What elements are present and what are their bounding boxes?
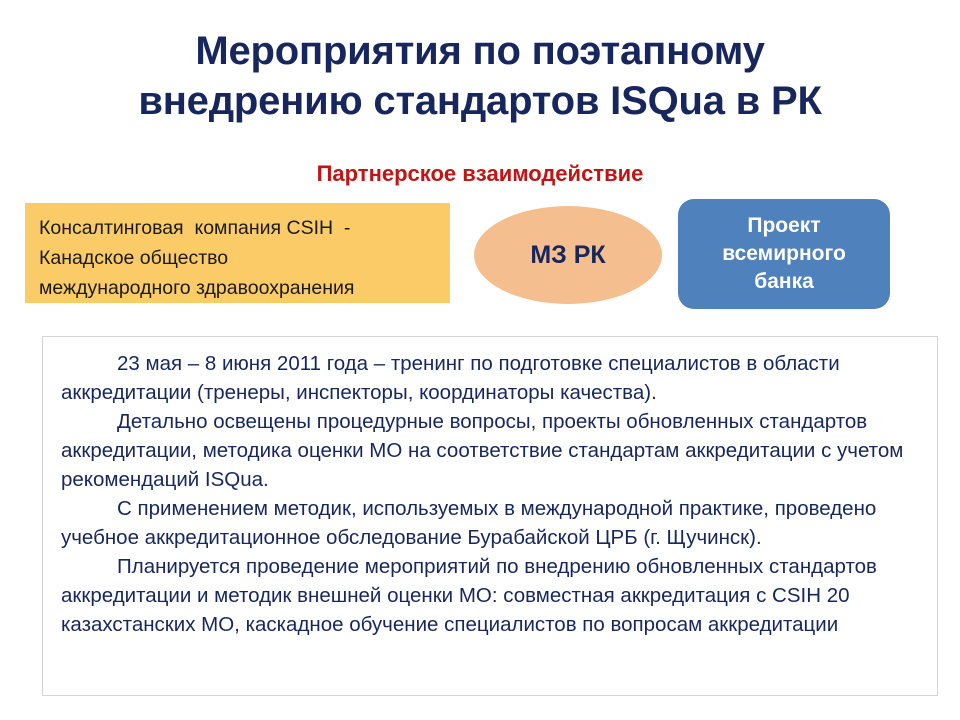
body-paragraph-4: Планируется проведение мероприятий по вн… [61, 552, 921, 639]
body-paragraph-3: С применением методик, используемых в ме… [61, 494, 921, 552]
ministry-of-health-ellipse: МЗ РК [474, 206, 662, 304]
ministry-of-health-label: МЗ РК [530, 241, 605, 270]
slide-canvas: Мероприятия по поэтапному внедрению стан… [0, 0, 960, 720]
world-bank-line-3: банка [722, 268, 846, 296]
body-paragraph-1: 23 мая – 8 июня 2011 года – тренинг по п… [61, 349, 921, 407]
partner-box-line-2: Канадское общество [39, 243, 438, 273]
world-bank-line-1: Проект [722, 212, 846, 240]
page-title-line-1: Мероприятия по поэтапному [60, 26, 900, 76]
body-text-box: 23 мая – 8 июня 2011 года – тренинг по п… [42, 336, 938, 696]
world-bank-line-2: всемирного [722, 240, 846, 268]
section-subtitle: Партнерское взаимодействие [240, 160, 720, 188]
page-title: Мероприятия по поэтапному внедрению стан… [60, 26, 900, 126]
world-bank-project-box: Проект всемирного банка [678, 199, 890, 309]
partner-box-line-1: Консалтинговая компания CSIH - [39, 213, 438, 243]
partner-box-line-3: международного здравоохранения [39, 273, 438, 303]
page-title-line-2: внедрению стандартов ISQua в РК [60, 76, 900, 126]
body-paragraph-2: Детально освещены процедурные вопросы, п… [61, 407, 921, 494]
partner-organization-box: Консалтинговая компания CSIH - Канадское… [25, 203, 450, 303]
